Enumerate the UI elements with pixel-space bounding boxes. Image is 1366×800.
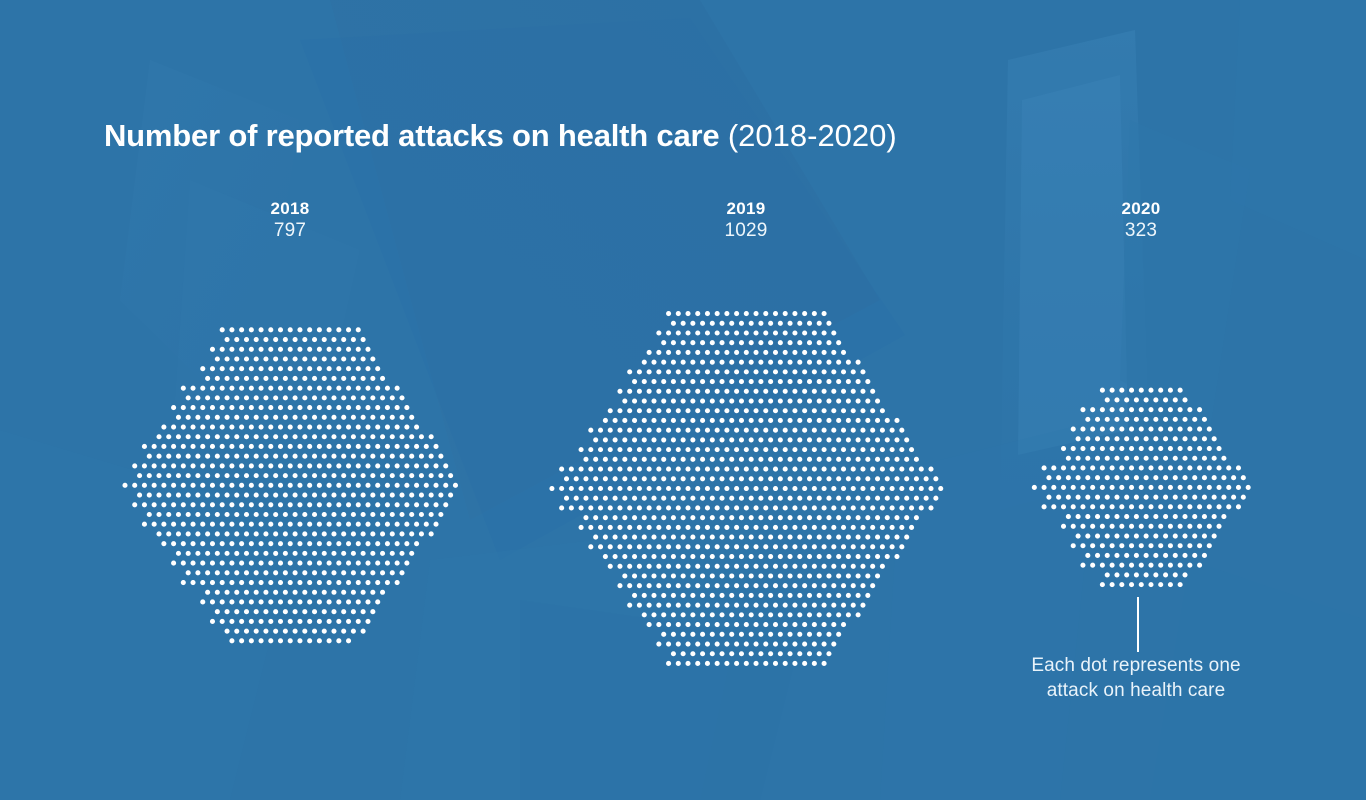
title-year-range: (2018-2020) [728, 118, 897, 153]
group-value-2020: 323 [1061, 219, 1221, 243]
group-label-2019: 2019 1029 [666, 198, 826, 243]
annotation-text: Each dot represents one attack on health… [991, 653, 1281, 703]
group-label-2020: 2020 323 [1061, 198, 1221, 243]
dot-matrix [112, 321, 468, 650]
dot-matrix [544, 302, 949, 675]
hex-dot-cluster-2019 [544, 302, 949, 675]
group-label-2018: 2018 797 [210, 198, 370, 243]
page-title: Number of reported attacks on health car… [104, 116, 897, 156]
group-value-2018: 797 [210, 219, 370, 243]
group-year-2018: 2018 [210, 198, 370, 219]
unit-dots [1032, 387, 1251, 586]
infographic-canvas: Number of reported attacks on health car… [0, 0, 1366, 800]
hex-dot-cluster-2020 [1026, 381, 1257, 594]
unit-dots [549, 311, 943, 666]
group-value-2019: 1029 [666, 219, 826, 243]
title-main: Number of reported attacks on health car… [104, 118, 719, 153]
group-year-2020: 2020 [1061, 198, 1221, 219]
unit-dots [122, 327, 458, 643]
annotation-leader-line [1137, 597, 1139, 652]
group-year-2019: 2019 [666, 198, 826, 219]
dot-matrix [1026, 381, 1257, 594]
hex-dot-cluster-2018 [112, 321, 468, 650]
